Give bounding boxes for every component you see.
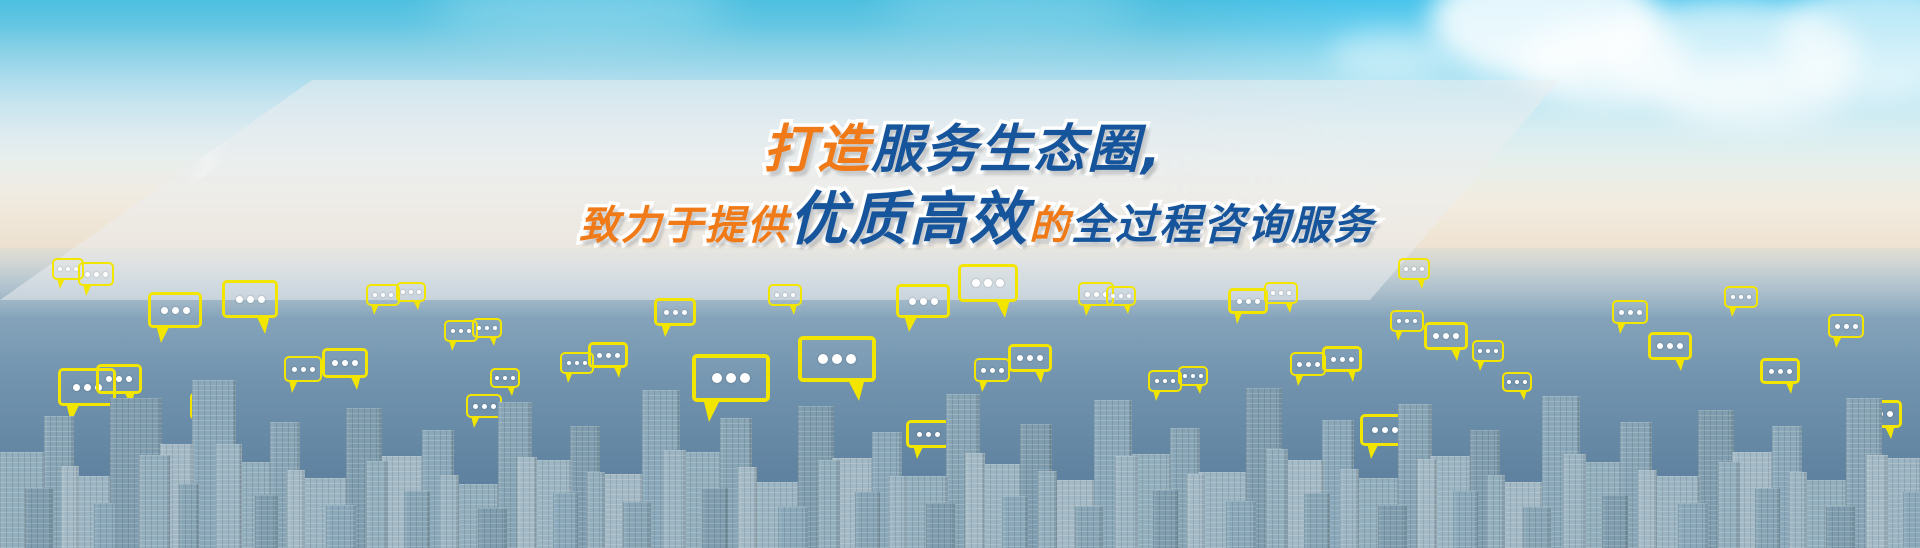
bubble-dot [511,376,515,380]
building [778,507,808,548]
bubble-tail [1395,330,1403,341]
bubble-tail [995,299,1010,318]
bubble-tail [489,336,497,346]
speech-bubble-icon [1106,286,1136,306]
hero-banner: 打造服务生态圈, 致力于提供优质高效的全过程咨询服务 [0,0,1920,548]
speech-bubble-icon [1398,258,1430,280]
bubble-tail [350,375,361,390]
bubble-dot [1037,355,1043,361]
bubble-dot [1372,427,1378,433]
bubble-dot [126,376,132,382]
bubble-dot [1443,333,1449,339]
building [889,476,907,548]
bubble-tail [979,380,988,392]
speech-bubble-icon [366,284,400,306]
building [1453,491,1478,548]
bubble-dot [236,296,243,303]
bubble-dot [972,279,980,287]
bubble-tail [1195,384,1203,394]
bubble-tail [1234,311,1243,324]
bubble-dot [1163,379,1167,383]
speech-bubble-icon [284,356,322,382]
speech-bubble-icon [466,394,502,418]
building [1226,501,1256,548]
bubble-dot [1515,380,1519,384]
bubble-dot [1731,295,1735,299]
bubble-dot [846,354,856,364]
bubble-tail [1450,347,1461,361]
speech-bubble-icon [1322,346,1362,372]
bubble-dot [503,376,507,380]
bubble-dot [183,307,190,314]
building [255,495,278,548]
building [216,444,242,548]
bubble-dot [712,373,722,383]
bubble-dot [1494,349,1498,353]
bubble-dot [1433,333,1439,339]
bubble-tail [613,365,622,378]
bubble-dot [783,293,787,297]
building [1523,507,1551,548]
bubble-dot [990,368,995,373]
bubble-dot [917,432,922,437]
bubble-dot [1111,294,1115,298]
bubble-dot [106,376,112,382]
speech-bubble-icon [1178,366,1208,386]
bubble-tail [449,340,457,351]
bubble-dot [58,267,62,271]
speech-bubble-icon [1148,370,1182,392]
bubble-dot [1271,291,1275,295]
bubble-dot [332,360,338,366]
bubble-dot [1199,374,1203,378]
bubble-dot [1119,294,1123,298]
bubble-dot [301,367,306,372]
bubble-dot [1420,267,1424,271]
speech-bubble-icon [1472,340,1504,362]
bubble-dot [1637,310,1642,315]
building [553,493,578,548]
building [587,472,605,548]
bubble-tail [1617,322,1626,334]
bubble-dot [417,290,421,294]
bubble-tail [1083,304,1092,316]
bubble-dot [597,353,602,358]
building [1789,472,1807,548]
bubble-dot [920,298,927,305]
bubble-dot [1787,369,1792,374]
bubble-dot [583,361,587,365]
building [287,470,305,548]
bubble-dot [1619,310,1624,315]
bubble-dot [451,329,455,333]
bubble-dot [459,329,463,333]
bubble-tail [847,378,865,401]
speech-bubble-icon [490,368,520,388]
bubble-dot [1739,295,1743,299]
bubble-tail [507,386,515,396]
building [326,505,356,548]
bubble-dot [999,368,1004,373]
bubble-tail [1729,306,1737,317]
speech-bubble-icon [78,262,114,286]
speech-bubble-icon [588,342,628,368]
bubble-tail [1674,357,1685,371]
speech-bubble-icon [1390,310,1424,332]
bubble-dot [567,361,571,365]
bubble-dot [1183,374,1187,378]
building [663,450,686,548]
bubble-dot [818,354,828,364]
speech-bubble-icon [396,282,426,302]
bubble-dot [493,326,497,330]
bubble-dot [1340,357,1345,362]
bubble-dot [740,373,750,383]
bubble-tail [1153,390,1161,401]
bubble-dot [172,307,179,314]
bubble-dot [381,293,385,297]
bubble-dot [832,354,842,364]
bubble-tail [1833,336,1842,348]
building [818,460,840,548]
speech-bubble-icon [906,420,950,448]
bubble-tail [1477,360,1485,371]
bubble-dot [682,310,687,315]
bubble-dot [73,384,80,391]
bubble-tail [156,325,170,343]
bubble-dot [1412,267,1416,271]
speech-bubble-icon [896,284,950,318]
speech-bubble-icon [1290,352,1326,376]
bubble-dot [1237,299,1242,304]
building [478,508,507,548]
speech-bubble-icon [1424,322,1468,350]
bubble-dot [1027,355,1033,361]
bubble-dot [1523,380,1527,384]
bubble-dot [84,384,91,391]
speech-bubble-icon [798,336,876,382]
bubble-dot [258,296,265,303]
building [1378,505,1407,548]
bubble-dot [1404,267,1408,271]
building [179,484,199,548]
bubble-tail [1367,443,1379,459]
building [1304,493,1330,548]
bubble-dot [775,293,779,297]
bubble-dot [664,310,669,315]
bubble-dot [389,293,393,297]
bubble-dot [1287,291,1291,295]
building [1075,506,1103,548]
building [517,457,537,548]
bubble-dot [1331,357,1336,362]
building [1638,470,1657,548]
building [1678,503,1708,548]
bubble-tail [661,323,672,337]
bubble-dot [485,326,489,330]
bubble-dot [935,432,940,437]
bubble-dot [1835,324,1840,329]
bubble-dot [1315,362,1320,367]
bubble-tail [83,284,92,296]
bubble-tail [904,315,918,332]
bubble-dot [909,298,916,305]
bubble-dot [342,360,348,366]
bubble-dot [1887,411,1893,417]
building [1487,475,1505,548]
bubble-dot [1486,349,1490,353]
bubble-dot [981,368,986,373]
bubble-dot [606,353,611,358]
bubble-tail [913,445,924,459]
bubble-dot [477,326,481,330]
bubble-tail [1417,278,1425,289]
bubble-tail [1295,374,1304,386]
bubble-tail [289,380,298,393]
cloud-icon [1330,30,1450,80]
building [1866,455,1888,548]
speech-bubble-icon [1648,332,1692,360]
building [1187,474,1205,548]
building [94,503,118,548]
bubble-tail [565,372,573,383]
bubble-tail [1285,302,1293,313]
bubble-tail [1034,369,1045,383]
speech-bubble-icon [1760,358,1800,384]
bubble-dot [247,296,254,303]
bubble-dot [1453,333,1459,339]
speech-bubble-icon [654,298,696,326]
bubble-dot [1853,324,1858,329]
bubble-dot [615,353,620,358]
bubble-dot [1382,427,1388,433]
building [1417,459,1437,548]
bubble-tail [703,398,721,422]
speech-bubble-icon [148,292,202,328]
bubble-tail [57,278,65,289]
bubble-tail [1884,425,1895,439]
speech-bubble-icon [1724,286,1758,308]
building [1755,488,1780,548]
building [1038,471,1057,548]
bubble-tail [1347,369,1356,382]
bubble-tail [1785,381,1794,394]
bubble-dot [1306,362,1311,367]
bubble-dot [85,272,90,277]
building [61,466,79,548]
bubble-dot [310,367,315,372]
bubble-dot [1094,292,1099,297]
bubble-dot [1667,343,1673,349]
building [1826,506,1855,548]
bubble-dot [1778,369,1783,374]
building [1903,492,1920,548]
speech-bubble-icon [1828,314,1864,338]
bubble-dot [467,329,471,333]
building [855,492,880,548]
building [702,488,728,548]
bubble-dot [409,290,413,294]
speech-bubble-icon [1008,344,1052,372]
speech-bubble-icon [1612,300,1648,324]
bubble-dot [1155,379,1159,383]
bubble-dot [401,290,405,294]
building [1602,495,1628,548]
speech-bubble-icon [472,318,502,338]
bubble-dot [482,404,487,409]
bubble-dot [1413,319,1417,323]
bubble-dot [1127,294,1131,298]
bubble-dot [292,367,297,372]
bubble-dot [373,293,377,297]
bubble-dot [673,310,678,315]
building [1002,496,1028,548]
bubble-dot [931,298,938,305]
building [1153,490,1178,548]
building [1115,456,1138,548]
bubble-dot [1844,324,1849,329]
bubble-dot [1657,343,1663,349]
building [965,453,985,548]
speech-bubble-icon [768,284,802,306]
speech-bubble-icon [96,364,142,394]
speech-bubble-icon [322,348,368,378]
speech-bubble-icon [1502,372,1532,392]
speech-bubble-icon [692,354,770,402]
building [440,475,459,548]
bubble-dot [473,404,478,409]
building [926,503,955,548]
building [1718,462,1740,548]
bubble-tail [413,300,421,310]
bubble-tail [1519,390,1527,400]
bubble-dot [1255,299,1260,304]
bubble-tail [371,304,379,315]
building [1563,454,1586,548]
bubble-dot [352,360,358,366]
bubble-dot [1246,299,1251,304]
building [404,491,430,548]
bubble-dot [495,376,499,380]
speech-bubble-icon [974,358,1010,382]
building [623,502,651,548]
bubble-dot [791,293,795,297]
bubble-dot [1397,319,1401,323]
bubble-dot [1191,374,1195,378]
bubble-tail [471,416,480,428]
bubble-dot [66,267,70,271]
bubble-dot [1747,295,1751,299]
building [738,467,757,548]
bubble-tail [256,315,270,334]
bubble-dot [116,376,122,382]
building [1266,449,1288,548]
bubble-dot [1628,310,1633,315]
building [25,488,53,548]
speech-bubble-icon [1264,282,1298,304]
speech-bubble-icon [958,264,1018,302]
building [366,461,388,548]
bubble-dot [1279,291,1283,295]
bubble-dot [1769,369,1774,374]
bubble-dot [103,272,108,277]
bubble-dot [491,404,496,409]
building [1340,469,1359,548]
bubble-dot [1297,362,1302,367]
bubble-dot [1677,343,1683,349]
bubble-dot [926,432,931,437]
bubble-dot [161,307,168,314]
bubble-dot [1349,357,1354,362]
bubble-dot [1171,379,1175,383]
bubble-dot [996,279,1004,287]
bubble-dot [1478,349,1482,353]
bubble-tail [789,304,797,315]
bubble-dot [94,272,99,277]
building [139,455,170,548]
bubble-dot [1507,380,1511,384]
bubble-dot [1405,319,1409,323]
speech-bubble-icon [222,280,278,318]
bubble-dot [575,361,579,365]
speech-bubble-icon [1228,288,1268,314]
bubble-dot [1085,292,1090,297]
bubble-dot [1017,355,1023,361]
bubble-tail [1123,304,1131,314]
bubble-dot [726,373,736,383]
bubble-dot [984,279,992,287]
